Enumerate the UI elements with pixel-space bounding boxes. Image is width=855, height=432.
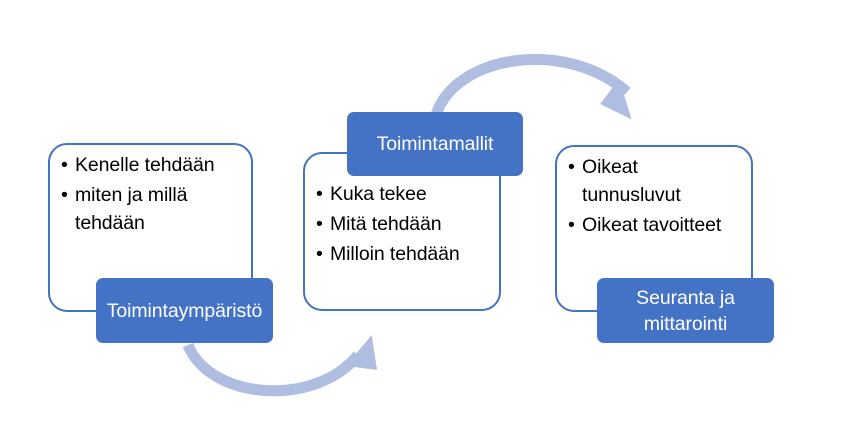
bullet-text: Mitä tehdään (330, 213, 442, 235)
bullet-item: •Kenelle tehdään (60, 151, 241, 179)
bullet-item: •Kuka tekee (315, 180, 489, 208)
bullet-text: Kenelle tehdään (75, 154, 214, 176)
bullet-dot-icon: • (568, 153, 575, 181)
bullet-list: •Kuka tekee •Mitä tehdään •Milloin tehdä… (315, 180, 489, 268)
stage-label-text: Toimintamallit (377, 131, 494, 157)
bullet-text: Milloin tehdään (330, 243, 460, 265)
stage-label-text: Seuranta ja mittarointi (597, 285, 774, 337)
stage-label-text: Toimintaympäristö (107, 298, 262, 324)
bullet-list-container: •Kenelle tehdään •miten ja millä tehdään (50, 145, 251, 239)
stage-label-toimintamallit[interactable]: Toimintamallit (347, 112, 523, 176)
bullet-text: Oikeat tunnusluvut (582, 156, 681, 206)
bullet-text: Oikeat tavoitteet (582, 214, 721, 236)
stage-label-seuranta[interactable]: Seuranta ja mittarointi (597, 278, 774, 343)
bullet-dot-icon: • (316, 210, 323, 238)
bullet-item: •Oikeat tavoitteet (567, 211, 741, 239)
bullet-dot-icon: • (61, 181, 68, 209)
bullet-item: •miten ja millä tehdään (60, 181, 241, 237)
arrow-top (436, 59, 645, 119)
process-diagram: •Kenelle tehdään •miten ja millä tehdään… (0, 0, 855, 432)
bullet-dot-icon: • (316, 240, 323, 268)
bullet-dot-icon: • (61, 151, 68, 179)
stage-label-toimintaymparisto[interactable]: Toimintaympäristö (96, 278, 273, 343)
bullet-list-container: •Oikeat tunnusluvut •Oikeat tavoitteet (557, 147, 751, 241)
bullet-text: miten ja millä tehdään (75, 184, 187, 234)
bullet-item: •Milloin tehdään (315, 240, 489, 268)
bullet-dot-icon: • (316, 180, 323, 208)
bullet-text: Kuka tekee (330, 183, 427, 205)
bullet-list: •Oikeat tunnusluvut •Oikeat tavoitteet (567, 153, 741, 239)
bullet-dot-icon: • (568, 211, 575, 239)
arrow-bottom (188, 335, 377, 391)
bullet-item: •Mitä tehdään (315, 210, 489, 238)
bullet-list: •Kenelle tehdään •miten ja millä tehdään (60, 151, 241, 237)
bullet-item: •Oikeat tunnusluvut (567, 153, 741, 209)
